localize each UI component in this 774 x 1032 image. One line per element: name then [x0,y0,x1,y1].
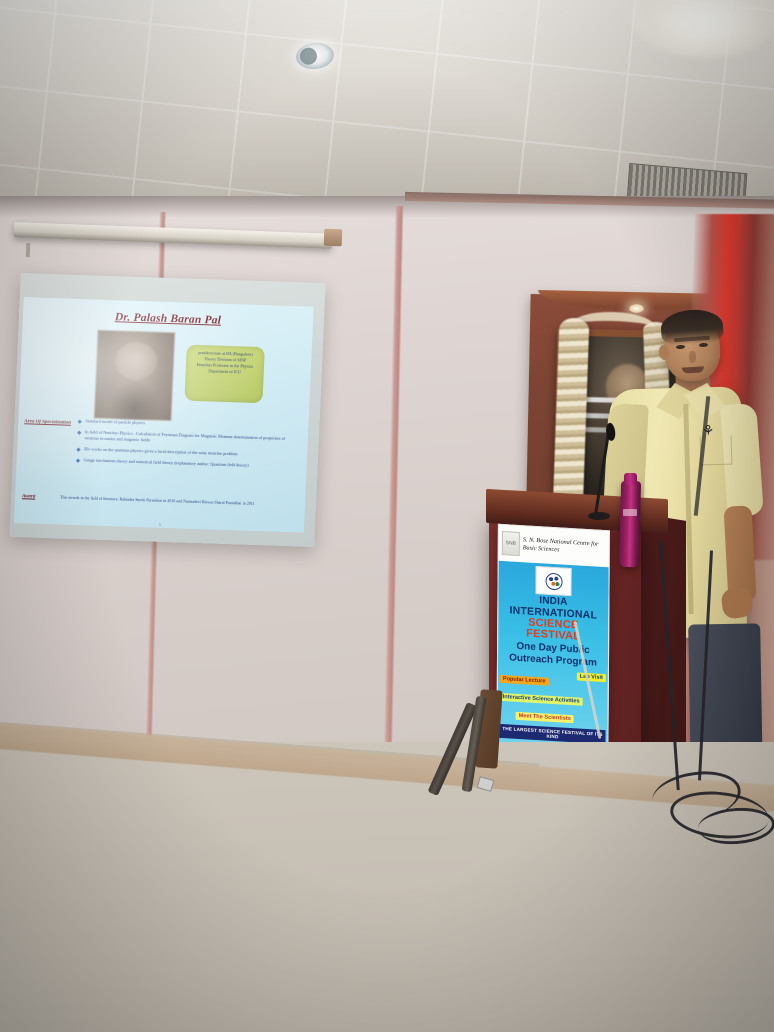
poster-chip-lab-visit: Lab Visit [577,672,606,682]
projector-screen-bracket [26,243,30,257]
slide-bullet: Gauge mechanism theory and statistical f… [77,457,299,471]
microphone-base [588,512,610,520]
presentation-slide: Dr. Palash Baran Pal postdoctorate at II… [14,297,314,532]
poster-chip-interactive-activities: Interactive Science Activities [500,693,583,706]
slide-award-text: This awards in the field of literature, … [60,494,298,508]
institute-logo-icon: SNB [502,531,520,556]
water-bottle-cap [624,473,637,485]
poster-chip-meet-scientists: Meet The Scientists [516,712,574,723]
poster-main-panel: INDIA INTERNATIONAL SCIENCE FESTIVAL One… [497,561,608,748]
slide-page-number: 1 [159,523,161,527]
slide-green-callout: postdoctorate at IIA (Bangalore) Theory … [184,345,264,404]
slide-label-award: Award [22,494,35,499]
speaker-nose [689,351,696,363]
projection-screen: Dr. Palash Baran Pal postdoctorate at II… [9,273,325,547]
cable-bundle [640,540,774,840]
poster-banner-text: THE LARGEST SCIENCE FESTIVAL OF ITS KIND [499,724,605,744]
spotlight-icon [629,304,644,313]
green-box-item: Emeritus Professor in the Physics Depart… [190,362,260,376]
slide-label-specialization: Area Of Specialization [24,419,71,426]
poster-organization-name: S. N. Bose National Centre for Basic Sci… [523,536,606,556]
emblem-dots-icon [545,572,562,590]
water-bottle [619,481,641,567]
water-bottle-label [623,509,637,516]
poster-chip-popular-lecture: Popular Lecture [500,675,549,686]
slide-bullet-list: Standard model of particle physics In fi… [76,418,300,476]
projector-screen-end-cap [324,229,343,247]
slide-bullet: In field of Neutrino Physics : Calculati… [78,429,300,449]
slide-portrait-photo [94,330,176,422]
lecture-hall-photo: Dr. Palash Baran Pal postdoctorate at II… [0,0,774,1032]
iisf-emblem-icon [535,566,571,596]
slide-title: Dr. Palash Baran Pal [23,308,313,330]
cable-segment [682,550,713,781]
